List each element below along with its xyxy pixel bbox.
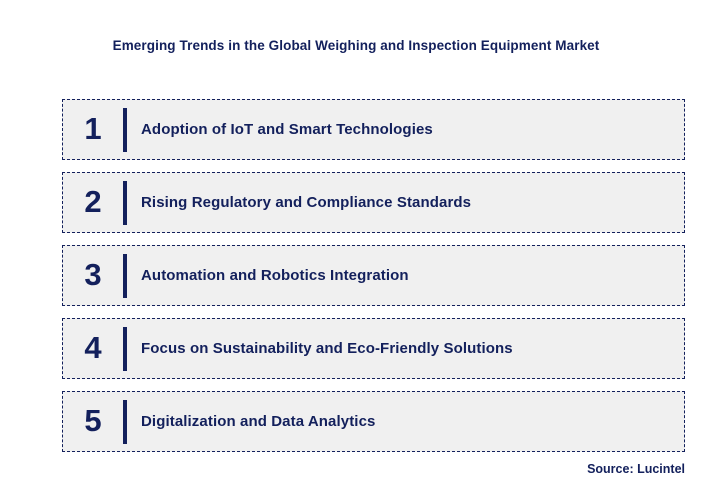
trend-item-2[interactable]: 2 Rising Regulatory and Compliance Stand… bbox=[62, 172, 685, 233]
page-title: Emerging Trends in the Global Weighing a… bbox=[0, 36, 712, 56]
trend-item-4[interactable]: 4 Focus on Sustainability and Eco-Friend… bbox=[62, 318, 685, 379]
trend-item-1[interactable]: 1 Adoption of IoT and Smart Technologies bbox=[62, 99, 685, 160]
trend-number: 3 bbox=[63, 259, 123, 292]
trend-number: 4 bbox=[63, 332, 123, 365]
trend-number: 1 bbox=[63, 113, 123, 146]
trend-label: Adoption of IoT and Smart Technologies bbox=[127, 120, 684, 140]
trend-label: Digitalization and Data Analytics bbox=[127, 412, 684, 432]
trend-item-5[interactable]: 5 Digitalization and Data Analytics bbox=[62, 391, 685, 452]
trend-label: Rising Regulatory and Compliance Standar… bbox=[127, 193, 684, 213]
trend-number: 2 bbox=[63, 186, 123, 219]
trend-label: Focus on Sustainability and Eco-Friendly… bbox=[127, 339, 684, 359]
trend-number: 5 bbox=[63, 405, 123, 438]
infographic-page: Emerging Trends in the Global Weighing a… bbox=[0, 0, 712, 501]
source-attribution: Source: Lucintel bbox=[587, 461, 685, 477]
trend-list: 1 Adoption of IoT and Smart Technologies… bbox=[62, 99, 685, 452]
trend-label: Automation and Robotics Integration bbox=[127, 266, 684, 286]
trend-item-3[interactable]: 3 Automation and Robotics Integration bbox=[62, 245, 685, 306]
